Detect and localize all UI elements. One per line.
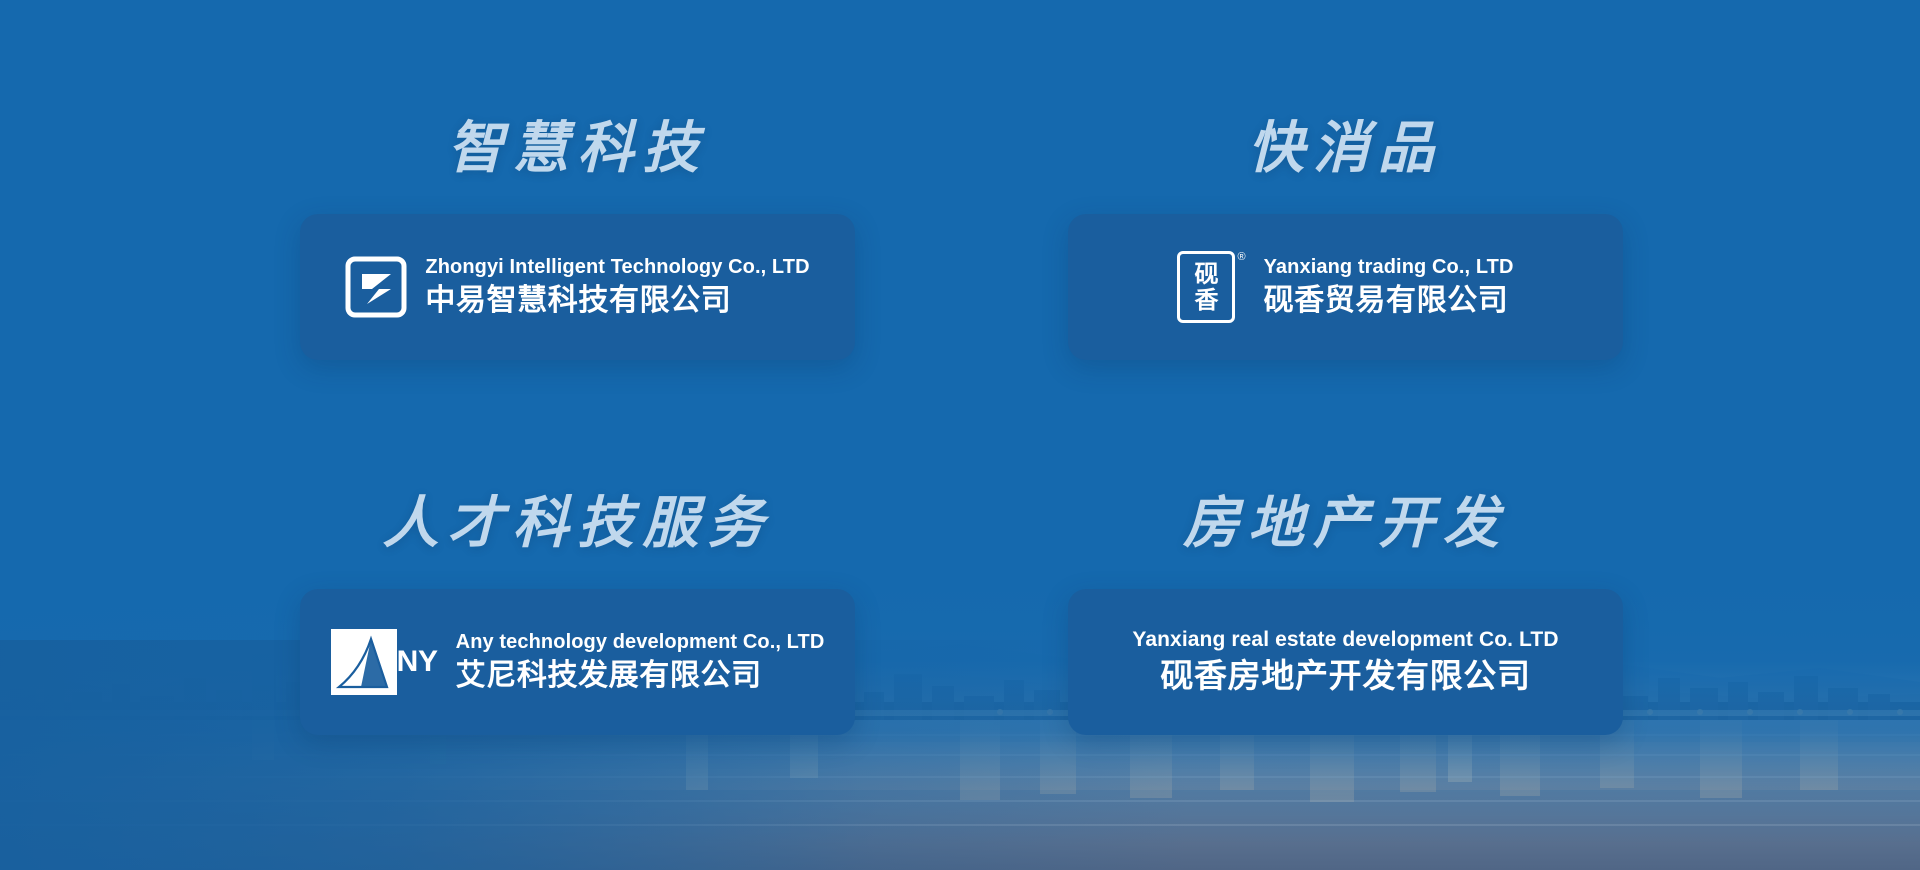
- brand-grid: 智慧科技 Zhongyi Intelligent Technology Co.,…: [0, 0, 1920, 870]
- registered-trademark-icon: ®: [1237, 251, 1245, 263]
- seal-char-top: 砚: [1194, 262, 1218, 286]
- company-name-cn: 砚香房地产开发有限公司: [1160, 656, 1530, 696]
- any-names: Any technology development Co., LTD 艾尼科技…: [456, 631, 825, 694]
- section-title-talent-services: 人才科技服务: [300, 495, 855, 551]
- yanxiang-seal-logo: 砚 香 ®: [1177, 251, 1245, 323]
- zhongyi-logo: [345, 256, 407, 318]
- section-title-real-estate: 房地产开发: [1068, 495, 1623, 551]
- yanxiang-trading-names: Yanxiang trading Co., LTD 砚香贸易有限公司: [1264, 256, 1514, 319]
- any-mountain-icon: [331, 629, 397, 695]
- company-name-en: Any technology development Co., LTD: [456, 631, 825, 654]
- any-wordmark: NY: [397, 645, 438, 679]
- company-card-any[interactable]: NY Any technology development Co., LTD 艾…: [300, 589, 855, 735]
- company-name-en: Zhongyi Intelligent Technology Co., LTD: [425, 256, 809, 279]
- seal-mark: 砚 香: [1177, 251, 1235, 323]
- zhongyi-names: Zhongyi Intelligent Technology Co., LTD …: [425, 256, 809, 319]
- company-name-cn: 中易智慧科技有限公司: [425, 283, 809, 319]
- section-title-smart-technology: 智慧科技: [300, 120, 855, 176]
- company-name-cn: 砚香贸易有限公司: [1264, 283, 1514, 319]
- section-smart-technology: 智慧科技 Zhongyi Intelligent Technology Co.,…: [300, 120, 855, 360]
- seal-char-bottom: 香: [1194, 288, 1218, 312]
- section-talent-services: 人才科技服务 NY: [300, 495, 855, 735]
- company-card-yanxiang-real-estate[interactable]: Yanxiang real estate development Co. LTD…: [1068, 589, 1623, 735]
- yanxiang-real-estate-names: Yanxiang real estate development Co. LTD…: [1132, 628, 1558, 696]
- section-title-fmcg: 快消品: [1068, 120, 1623, 176]
- section-fmcg: 快消品 砚 香 ® Yanxiang trading Co., LTD 砚香贸易…: [1068, 120, 1623, 360]
- company-card-zhongyi[interactable]: Zhongyi Intelligent Technology Co., LTD …: [300, 214, 855, 360]
- section-real-estate: 房地产开发 Yanxiang real estate development C…: [1068, 495, 1623, 735]
- any-logo: NY: [331, 629, 438, 695]
- company-name-en: Yanxiang real estate development Co. LTD: [1132, 628, 1558, 652]
- company-name-en: Yanxiang trading Co., LTD: [1264, 256, 1514, 279]
- company-name-cn: 艾尼科技发展有限公司: [456, 658, 825, 694]
- company-card-yanxiang-trading[interactable]: 砚 香 ® Yanxiang trading Co., LTD 砚香贸易有限公司: [1068, 214, 1623, 360]
